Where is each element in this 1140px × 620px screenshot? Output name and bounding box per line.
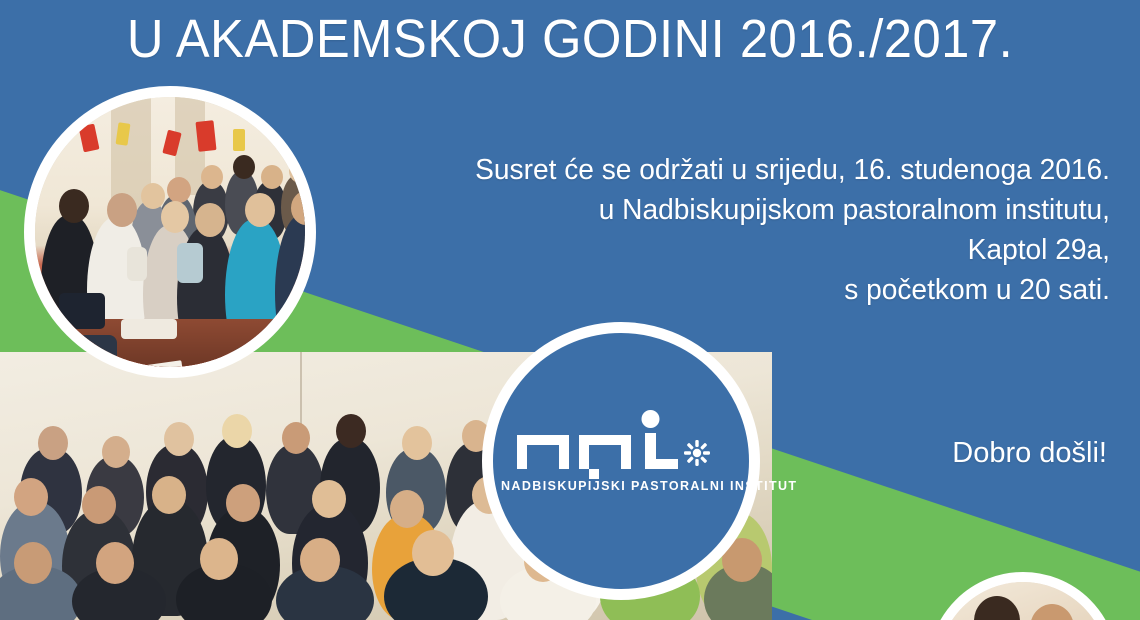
page-title: U AKADEMSKOJ GODINI 2016./2017. [34,8,1106,70]
photo-papers [121,319,177,339]
students-standing-photo [24,86,316,378]
corner-photo-inner [938,582,1108,620]
photo-laptop [59,293,105,329]
event-detail-line-2: u Nadbiskupijskom pastoralnom institutu, [363,190,1110,230]
npi-wordmark: NADBISKUPIJSKI PASTORALNI INSTITUT [501,479,741,493]
event-detail-line-4: s početkom u 20 sati. [363,270,1110,310]
event-details: Susret će se održati u srijedu, 16. stud… [363,150,1110,310]
welcome-message: Dobro došli! [952,437,1107,470]
event-detail-line-1: Susret će se održati u srijedu, 16. stud… [363,150,1110,190]
event-detail-line-3: Kaptol 29a, [363,230,1110,270]
poster-canvas: NADBISKUPIJSKI PASTORALNI INSTITUT U AKA… [0,0,1140,620]
npi-monogram-icon [513,409,729,479]
npi-logo-circle: NADBISKUPIJSKI PASTORALNI INSTITUT [482,322,760,600]
npi-logo-inner: NADBISKUPIJSKI PASTORALNI INSTITUT [501,401,741,521]
